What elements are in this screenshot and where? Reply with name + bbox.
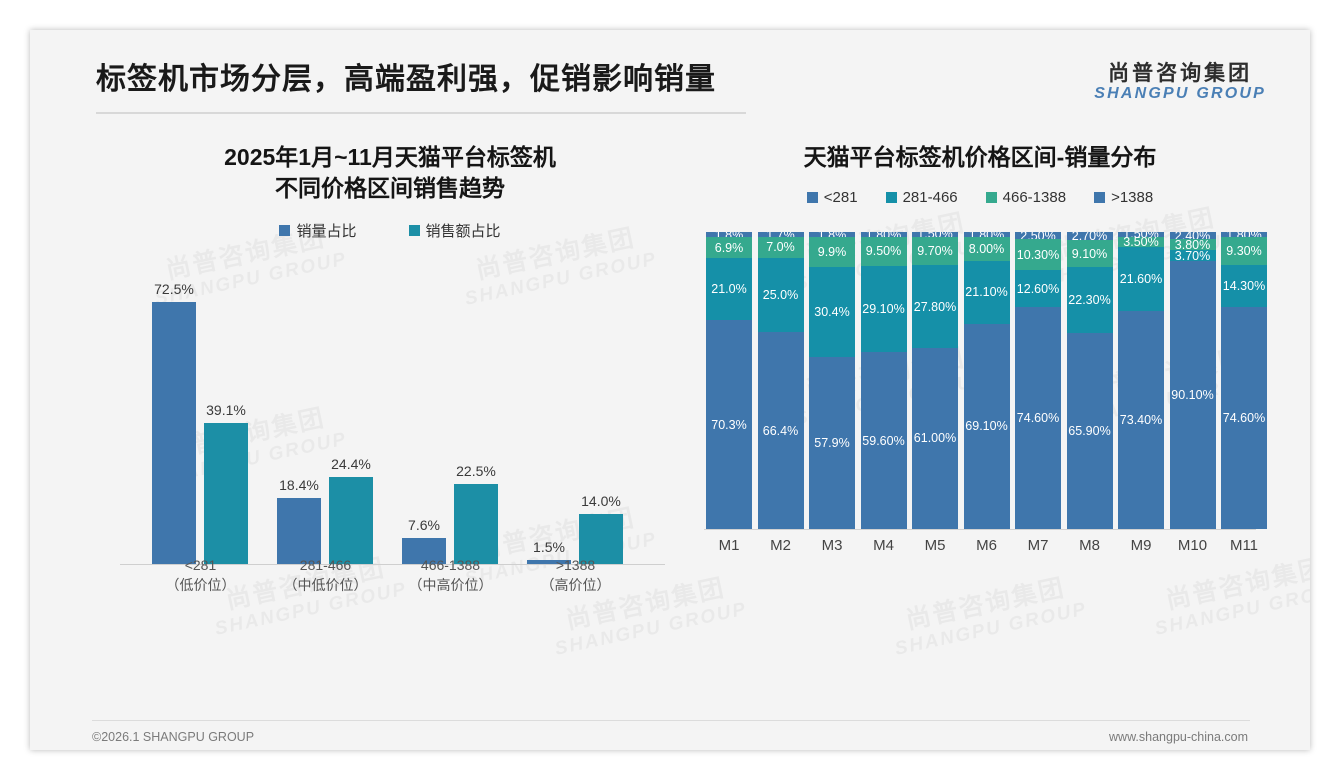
x-tick-primary: 281-466 bbox=[263, 555, 388, 575]
bar-value-label: 72.5% bbox=[154, 281, 194, 297]
right-chart-legend-item-0[interactable]: <281 bbox=[807, 189, 858, 206]
stack-segment-0[interactable]: 70.3% bbox=[706, 320, 752, 529]
right-chart-legend-item-3[interactable]: >1388 bbox=[1094, 189, 1153, 206]
x-tick-secondary: （低价位） bbox=[138, 575, 263, 595]
x-tick-primary: <281 bbox=[138, 555, 263, 575]
stack-segment-0[interactable]: 57.9% bbox=[809, 357, 855, 529]
stack-segment-2[interactable]: 9.50% bbox=[861, 237, 907, 265]
x-axis-tick-label: >1388（高价位） bbox=[513, 555, 638, 596]
legend-label: 281-466 bbox=[903, 189, 958, 206]
stack-segment-3[interactable]: 2.70% bbox=[1067, 232, 1113, 240]
footer-website: www.shangpu-china.com bbox=[1109, 730, 1248, 744]
x-axis-tick-label: M7 bbox=[1015, 537, 1061, 554]
legend-swatch-icon bbox=[1094, 192, 1105, 203]
bar-group: 7.6%22.5% bbox=[388, 241, 513, 565]
stack-segment-0[interactable]: 59.60% bbox=[861, 352, 907, 529]
stack-segment-value-label: 65.90% bbox=[1068, 424, 1110, 438]
stack-segment-value-label: 10.30% bbox=[1017, 248, 1059, 262]
stack-segment-1[interactable]: 29.10% bbox=[861, 266, 907, 352]
stack-segment-value-label: 59.60% bbox=[862, 434, 904, 448]
stack-segment-value-label: 9.9% bbox=[818, 245, 847, 259]
x-axis-tick-label: 281-466（中低价位） bbox=[263, 555, 388, 596]
stacked-bar-column[interactable]: 1.80%9.50%29.10%59.60% bbox=[861, 232, 907, 529]
stack-segment-0[interactable]: 65.90% bbox=[1067, 333, 1113, 529]
x-tick-secondary: （中低价位） bbox=[263, 575, 388, 595]
x-tick-secondary: （中高价位） bbox=[388, 575, 513, 595]
stack-segment-1[interactable]: 14.30% bbox=[1221, 265, 1267, 307]
bar-value-label: 24.4% bbox=[331, 456, 371, 472]
left-chart-title-line2: 不同价格区间销售趋势 bbox=[90, 173, 690, 204]
stack-segment-value-label: 70.3% bbox=[711, 418, 746, 432]
logo-chinese-text: 尚普咨询集团 bbox=[1094, 62, 1266, 85]
right-chart-legend-item-2[interactable]: 466-1388 bbox=[986, 189, 1066, 206]
x-axis-tick-label: M3 bbox=[809, 537, 855, 554]
grouped-bar-chart: 72.5%39.1%18.4%24.4%7.6%22.5%1.5%14.0% <… bbox=[110, 241, 670, 591]
legend-label: 销量占比 bbox=[296, 220, 356, 241]
stack-segment-value-label: 2.50% bbox=[1020, 232, 1055, 239]
stacked-bar-column[interactable]: 2.50%10.30%12.60%74.60% bbox=[1015, 232, 1061, 529]
stack-segment-2[interactable]: 10.30% bbox=[1015, 239, 1061, 270]
stack-segment-value-label: 7.0% bbox=[766, 240, 795, 254]
stack-segment-2[interactable]: 3.80% bbox=[1170, 239, 1216, 250]
bar-value-label: 7.6% bbox=[408, 517, 440, 533]
stack-segment-value-label: 90.10% bbox=[1171, 388, 1213, 402]
stack-segment-value-label: 21.10% bbox=[965, 285, 1007, 299]
stack-segment-value-label: 3.70% bbox=[1175, 250, 1210, 261]
bar-1[interactable]: 24.4% bbox=[329, 477, 373, 565]
x-axis-tick-label: M2 bbox=[758, 537, 804, 554]
x-axis-tick-label: M11 bbox=[1221, 537, 1267, 554]
stack-segment-1[interactable]: 30.4% bbox=[809, 267, 855, 357]
x-axis-tick-label: <281（低价位） bbox=[138, 555, 263, 596]
stack-segment-2[interactable]: 9.10% bbox=[1067, 240, 1113, 267]
right-chart-legend: <281281-466466-1388>1388 bbox=[690, 189, 1270, 206]
bar-value-label: 39.1% bbox=[206, 402, 246, 418]
stack-segment-value-label: 30.4% bbox=[814, 305, 849, 319]
stacked-bar-chart: 1.8%6.9%21.0%70.3%M11.7%7.0%25.0%66.4%M2… bbox=[700, 206, 1260, 556]
left-chart-title: 2025年1月~11月天猫平台标签机 不同价格区间销售趋势 bbox=[90, 142, 690, 204]
stack-segment-0[interactable]: 61.00% bbox=[912, 348, 958, 529]
left-chart-title-line1: 2025年1月~11月天猫平台标签机 bbox=[90, 142, 690, 173]
bar-group: 18.4%24.4% bbox=[263, 241, 388, 565]
stack-segment-0[interactable]: 73.40% bbox=[1118, 311, 1164, 529]
legend-swatch-icon bbox=[279, 225, 290, 236]
stacked-bar-column[interactable]: 1.80%9.30%14.30%74.60% bbox=[1221, 232, 1267, 529]
x-axis-tick-label: M5 bbox=[912, 537, 958, 554]
stack-segment-2[interactable]: 6.9% bbox=[706, 237, 752, 257]
bar-value-label: 14.0% bbox=[581, 493, 621, 509]
stack-segment-value-label: 21.60% bbox=[1120, 272, 1162, 286]
stacked-bar-column[interactable]: 1.80%8.00%21.10%69.10% bbox=[964, 232, 1010, 529]
stack-segment-0[interactable]: 74.60% bbox=[1221, 307, 1267, 529]
bar-0[interactable]: 72.5% bbox=[152, 302, 196, 565]
stack-segment-value-label: 69.10% bbox=[965, 419, 1007, 433]
x-axis-tick-label: M4 bbox=[861, 537, 907, 554]
bar-value-label: 18.4% bbox=[279, 477, 319, 493]
stack-segment-3[interactable]: 2.40% bbox=[1170, 232, 1216, 239]
stacked-bar-column[interactable]: 2.70%9.10%22.30%65.90% bbox=[1067, 232, 1113, 529]
stack-segment-value-label: 57.9% bbox=[814, 436, 849, 450]
stack-segment-1[interactable]: 27.80% bbox=[912, 265, 958, 348]
stack-segment-value-label: 29.10% bbox=[862, 302, 904, 316]
stack-segment-1[interactable]: 21.0% bbox=[706, 258, 752, 320]
stack-segment-1[interactable]: 22.30% bbox=[1067, 267, 1113, 333]
logo-english-text: SHANGPU GROUP bbox=[1094, 85, 1266, 103]
right-chart-title: 天猫平台标签机价格区间-销量分布 bbox=[690, 142, 1270, 173]
legend-label: 466-1388 bbox=[1003, 189, 1066, 206]
legend-swatch-icon bbox=[886, 192, 897, 203]
bar-group: 1.5%14.0% bbox=[513, 241, 638, 565]
brand-logo: 尚普咨询集团 SHANGPU GROUP bbox=[1094, 62, 1266, 103]
stack-segment-value-label: 2.70% bbox=[1072, 232, 1107, 240]
legend-swatch-icon bbox=[807, 192, 818, 203]
stack-segment-value-label: 9.70% bbox=[917, 244, 952, 258]
stack-segment-value-label: 8.00% bbox=[969, 242, 1004, 256]
legend-swatch-icon bbox=[409, 225, 420, 236]
stack-segment-value-label: 2.40% bbox=[1175, 232, 1210, 239]
slide: 标签机市场分层，高端盈利强，促销影响销量 尚普咨询集团 SHANGPU GROU… bbox=[30, 30, 1310, 750]
stacked-bar-column[interactable]: 1.50%3.50%21.60%73.40% bbox=[1118, 232, 1164, 529]
x-axis-tick-label: M10 bbox=[1170, 537, 1216, 554]
stack-segment-value-label: 74.60% bbox=[1017, 411, 1059, 425]
x-tick-primary: 466-1388 bbox=[388, 555, 513, 575]
stacked-bar-column[interactable]: 1.8%9.9%30.4%57.9% bbox=[809, 232, 855, 529]
stack-segment-3[interactable]: 2.50% bbox=[1015, 232, 1061, 239]
stack-segment-2[interactable]: 3.50% bbox=[1118, 237, 1164, 247]
stack-segment-1[interactable]: 3.70% bbox=[1170, 250, 1216, 261]
left-chart-legend-item-0[interactable]: 销量占比 bbox=[279, 220, 356, 241]
watermark-text: 尚普咨询集团SHANGPU GROUP bbox=[1147, 550, 1310, 640]
bar-value-label: 1.5% bbox=[533, 539, 565, 555]
x-axis-tick-label: M1 bbox=[706, 537, 752, 554]
stack-segment-1[interactable]: 25.0% bbox=[758, 258, 804, 332]
legend-label: <281 bbox=[824, 189, 858, 206]
stack-segment-value-label: 12.60% bbox=[1017, 282, 1059, 296]
x-axis-tick-label: 466-1388（中高价位） bbox=[388, 555, 513, 596]
stacked-bar-column[interactable]: 1.8%6.9%21.0%70.3% bbox=[706, 232, 752, 529]
stack-segment-0[interactable]: 74.60% bbox=[1015, 307, 1061, 529]
stack-segment-value-label: 3.50% bbox=[1123, 237, 1158, 247]
footer-divider bbox=[92, 720, 1250, 721]
bar-1[interactable]: 39.1% bbox=[204, 423, 248, 565]
stack-segment-2[interactable]: 7.0% bbox=[758, 237, 804, 258]
stack-segment-2[interactable]: 9.70% bbox=[912, 237, 958, 266]
legend-swatch-icon bbox=[986, 192, 997, 203]
stack-segment-2[interactable]: 9.30% bbox=[1221, 237, 1267, 265]
stack-segment-1[interactable]: 12.60% bbox=[1015, 270, 1061, 307]
bar-1[interactable]: 22.5% bbox=[454, 484, 498, 566]
left-chart-legend: 销量占比销售额占比 bbox=[90, 220, 690, 241]
stack-segment-0[interactable]: 69.10% bbox=[964, 324, 1010, 529]
stacked-bar-column[interactable]: 2.40%3.80%3.70%90.10% bbox=[1170, 232, 1216, 529]
stack-segment-value-label: 9.30% bbox=[1226, 244, 1261, 258]
x-axis-tick-label: M6 bbox=[964, 537, 1010, 554]
stack-segment-value-label: 25.0% bbox=[763, 288, 798, 302]
stack-segment-value-label: 27.80% bbox=[914, 300, 956, 314]
stack-segment-value-label: 6.9% bbox=[715, 241, 744, 255]
stack-segment-value-label: 22.30% bbox=[1068, 293, 1110, 307]
stack-segment-2[interactable]: 9.9% bbox=[809, 237, 855, 266]
chart-panel-right: 天猫平台标签机价格区间-销量分布 <281281-466466-1388>138… bbox=[690, 142, 1270, 556]
stack-segment-1[interactable]: 21.60% bbox=[1118, 247, 1164, 311]
stack-segment-value-label: 66.4% bbox=[763, 424, 798, 438]
left-chart-legend-item-1[interactable]: 销售额占比 bbox=[409, 220, 501, 241]
stack-segment-value-label: 9.10% bbox=[1072, 247, 1107, 261]
stack-segment-value-label: 21.0% bbox=[711, 282, 746, 296]
x-axis-tick-label: M9 bbox=[1118, 537, 1164, 554]
stacked-bar-column[interactable]: 1.7%7.0%25.0%66.4% bbox=[758, 232, 804, 529]
chart-panel-left: 2025年1月~11月天猫平台标签机 不同价格区间销售趋势 销量占比销售额占比 … bbox=[90, 142, 690, 591]
stack-segment-1[interactable]: 21.10% bbox=[964, 261, 1010, 324]
stack-segment-0[interactable]: 90.10% bbox=[1170, 261, 1216, 529]
right-chart-legend-item-1[interactable]: 281-466 bbox=[886, 189, 958, 206]
page-title: 标签机市场分层，高端盈利强，促销影响销量 bbox=[96, 54, 716, 98]
x-tick-secondary: （高价位） bbox=[513, 575, 638, 595]
x-axis-tick-label: M8 bbox=[1067, 537, 1113, 554]
stack-segment-value-label: 74.60% bbox=[1223, 411, 1265, 425]
header-divider bbox=[96, 112, 746, 114]
stacked-bar-column[interactable]: 1.50%9.70%27.80%61.00% bbox=[912, 232, 958, 529]
stack-segment-2[interactable]: 8.00% bbox=[964, 237, 1010, 261]
bar-group: 72.5%39.1% bbox=[138, 241, 263, 565]
stack-segment-value-label: 9.50% bbox=[866, 244, 901, 258]
stack-segment-value-label: 3.80% bbox=[1175, 239, 1210, 250]
stack-segment-value-label: 61.00% bbox=[914, 431, 956, 445]
legend-label: 销售额占比 bbox=[426, 220, 501, 241]
stack-segment-value-label: 14.30% bbox=[1223, 279, 1265, 293]
x-tick-primary: >1388 bbox=[513, 555, 638, 575]
footer-copyright: ©2026.1 SHANGPU GROUP bbox=[92, 730, 254, 744]
legend-label: >1388 bbox=[1111, 189, 1153, 206]
slide-header: 标签机市场分层，高端盈利强，促销影响销量 尚普咨询集团 SHANGPU GROU… bbox=[30, 30, 1310, 116]
stack-segment-0[interactable]: 66.4% bbox=[758, 332, 804, 529]
bar-value-label: 22.5% bbox=[456, 463, 496, 479]
watermark-text: 尚普咨询集团SHANGPU GROUP bbox=[887, 570, 1089, 660]
stack-segment-value-label: 73.40% bbox=[1120, 413, 1162, 427]
